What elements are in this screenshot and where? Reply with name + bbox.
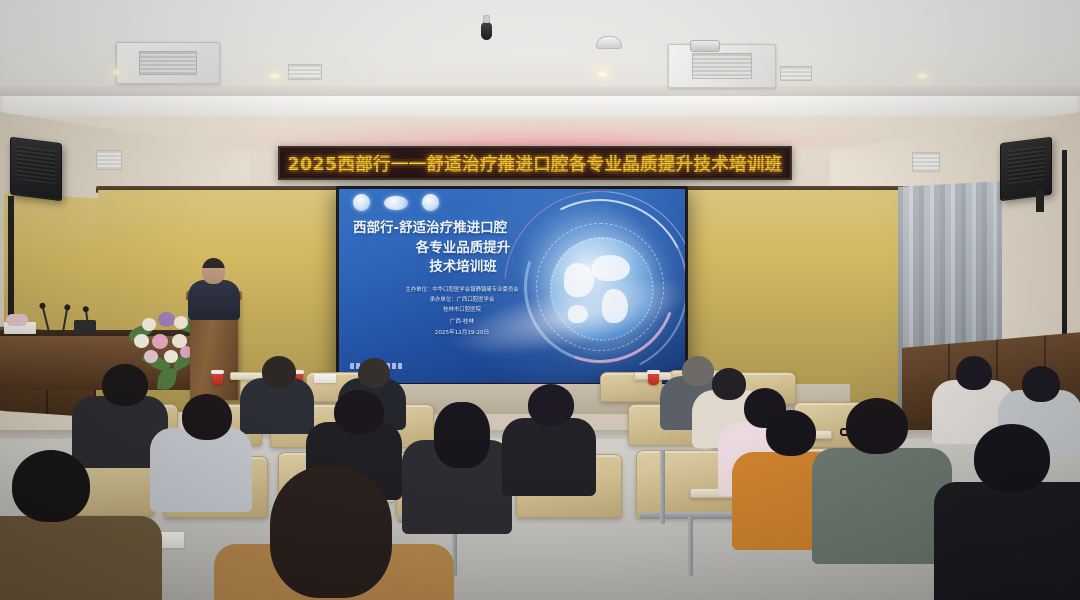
banner-pink-glow [210, 120, 890, 148]
presentation-slide: 西部行-舒适治疗推进口腔 各专业品质提升 技术培训班 主办单位：中华口腔医学会镇… [339, 189, 685, 383]
flower [152, 334, 168, 349]
attendee-body [934, 482, 1080, 600]
slide-organizers: 主办单位：中华口腔医学会镇静镇痛专业委员会 承办单位：广西口腔医学会 桂林市口腔… [351, 285, 573, 315]
pa-speaker-right [1000, 137, 1052, 201]
organizer-line-3: 桂林市口腔医院 [351, 305, 573, 315]
slide-logo-row [353, 194, 439, 211]
sponsor-logo-icon [384, 196, 408, 210]
downlight [596, 70, 609, 78]
attendee-hair [270, 466, 392, 598]
flower [174, 316, 188, 329]
projection-screen: 西部行-舒适治疗推进口腔 各专业品质提升 技术培训班 主办单位：中华口腔医学会镇… [336, 186, 688, 386]
downlight [110, 68, 123, 76]
slide-location: 广西·桂林 [351, 317, 573, 328]
ceiling-ac-unit-left [116, 42, 220, 84]
flower [144, 350, 158, 363]
ceiling-camera-icon [481, 22, 492, 40]
attendee-hair [434, 402, 490, 468]
attendee-head [846, 398, 908, 454]
organizer-line-2: 承办单位：广西口腔医学会 [351, 295, 573, 305]
attendee-head [974, 424, 1050, 492]
hospital-logo-icon [422, 194, 439, 211]
ceiling-vent-center [288, 64, 322, 80]
slide-title-line2: 各专业品质提升 [349, 239, 577, 259]
pa-speaker-right-pole [1062, 150, 1067, 350]
attendee-head [102, 364, 148, 406]
attendee-head [262, 356, 296, 388]
association-logo-icon [353, 194, 370, 211]
ceiling-seam [0, 86, 1080, 96]
slide-title-line1: 西部行-舒适治疗推进口腔 [349, 219, 577, 239]
wall-vent-left [96, 150, 122, 170]
pa-speaker-right-bracket [1036, 190, 1044, 212]
flower [142, 318, 156, 331]
led-banner: 2025西部行一一舒适治疗推进口腔各专业品质提升技术培训班 [278, 146, 792, 180]
ac-grille [139, 51, 196, 75]
wall-vent-right [912, 152, 940, 172]
seat-leg [688, 516, 693, 576]
ceiling-vent-right [780, 66, 812, 81]
led-banner-text: 2025西部行一一舒适治疗推进口腔各专业品质提升技术培训班 [288, 151, 783, 176]
attendee-body [0, 516, 162, 600]
paper-cup[interactable] [212, 372, 223, 385]
ceiling-dome-light [596, 36, 622, 49]
ac-grille [692, 53, 751, 78]
attendee-head [956, 356, 992, 390]
attendee-body [150, 428, 252, 512]
attendee-head [1022, 366, 1060, 402]
ceiling-ac-unit-right [668, 44, 776, 88]
seat-leg [660, 450, 665, 524]
attendee-body [812, 448, 952, 564]
slide-title: 西部行-舒适治疗推进口腔 各专业品质提升 技术培训班 [349, 219, 577, 278]
pa-speaker-left [10, 137, 62, 201]
attendee-head [766, 410, 816, 456]
attendee-head [358, 358, 390, 388]
attendee-head [528, 384, 574, 426]
eyeglasses-icon [840, 428, 866, 436]
conference-hall-photo: 2025西部行一一舒适治疗推进口腔各专业品质提升技术培训班 [0, 0, 1080, 600]
attendee-head [712, 368, 746, 400]
flower [158, 312, 175, 327]
flower [164, 350, 178, 363]
paper-cup[interactable] [648, 372, 659, 385]
attendee-head [334, 390, 384, 434]
table-flower-small [6, 314, 28, 326]
attendee-head [682, 356, 714, 386]
organizer-line-1: 主办单位：中华口腔医学会镇静镇痛专业委员会 [351, 285, 573, 295]
attendee-body [502, 418, 596, 496]
handout-paper[interactable] [314, 374, 336, 383]
downlight [268, 72, 281, 80]
attendee-head [12, 450, 90, 522]
ceiling-projector-mount [690, 40, 720, 52]
presenter-body [188, 280, 240, 320]
presenter-head [202, 258, 225, 284]
table-equipment [74, 320, 96, 334]
slide-location-date: 广西·桂林 2025年12月19-20日 [351, 317, 573, 338]
attendee-head [182, 394, 232, 440]
flower [134, 334, 149, 348]
slide-date: 2025年12月19-20日 [351, 328, 573, 339]
presenter [186, 258, 242, 314]
downlight [916, 72, 929, 80]
slide-title-line3: 技术培训班 [349, 258, 577, 278]
